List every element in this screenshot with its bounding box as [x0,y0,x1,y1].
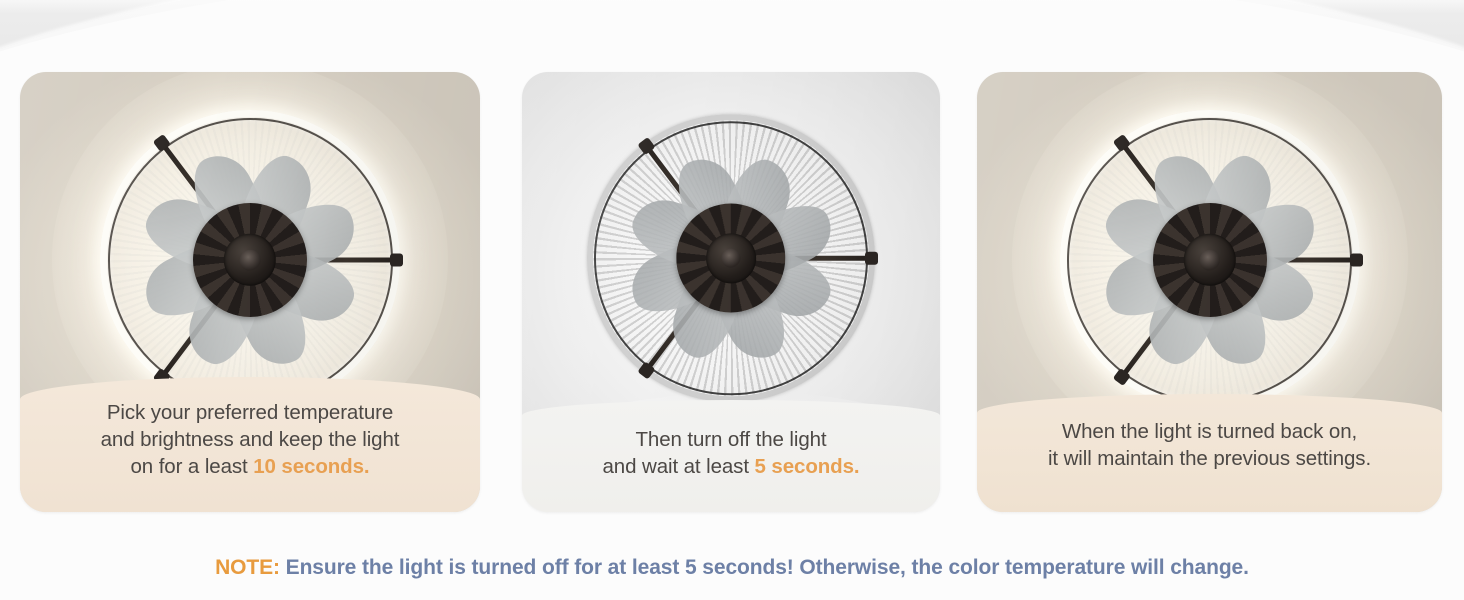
support-arm [1117,139,1211,262]
led-light-ring [100,110,400,410]
support-arm [642,142,733,260]
caption-line: Then turn off the light [538,426,924,453]
support-arm [642,257,733,375]
fan-blades [139,149,361,371]
caption-line: on for a least 10 seconds. [36,453,464,480]
caption-text: and wait at least [602,455,754,478]
fan-blades [1099,149,1321,371]
note-label: NOTE: [215,556,280,579]
ceiling-fan-fixture [1060,110,1360,410]
ceiling-fan-fixture [100,110,400,410]
support-arm [158,258,252,381]
panel-2: Then turn off the light and wait at leas… [522,72,940,512]
led-light-ring [587,114,875,402]
caption-line: When the light is turned back on, [993,418,1426,445]
fan-motor-hub [676,204,785,313]
caption-text: on for a least [131,455,254,478]
caption-line: and brightness and keep the light [36,426,464,453]
caption-line: Pick your preferred temperature [36,399,464,426]
fan-blades [624,152,837,365]
panel-1: Pick your preferred temperature and brig… [20,72,480,512]
panel-1-caption: Pick your preferred temperature and brig… [20,377,480,512]
caption-line: it will maintain the previous settings. [993,445,1426,472]
caption-line: and wait at least 5 seconds. [538,453,924,480]
support-arm [1117,258,1211,381]
caption-highlight: 5 seconds. [755,455,860,478]
support-arm [1210,258,1360,263]
note-text: Ensure the light is turned off for at le… [280,556,1249,579]
fan-motor-hub [1153,203,1267,317]
panels-row: Pick your preferred temperature and brig… [0,0,1464,520]
panel-3-caption: When the light is turned back on, it wil… [977,394,1442,512]
inner-dark-ring [594,121,868,395]
support-arm [250,258,400,263]
fan-motor-hub [193,203,307,317]
support-arm [731,256,875,261]
support-arm [158,139,252,262]
infographic-stage: Pick your preferred temperature and brig… [0,0,1464,600]
panel-3: When the light is turned back on, it wil… [977,72,1442,512]
panel-2-caption: Then turn off the light and wait at leas… [522,400,940,512]
inner-dark-ring [1067,118,1352,403]
led-light-ring [1060,110,1360,410]
caption-highlight: 10 seconds. [253,455,369,478]
inner-dark-ring [108,118,393,403]
note-bar: NOTE: Ensure the light is turned off for… [0,556,1464,580]
ceiling-fan-fixture [587,114,875,402]
